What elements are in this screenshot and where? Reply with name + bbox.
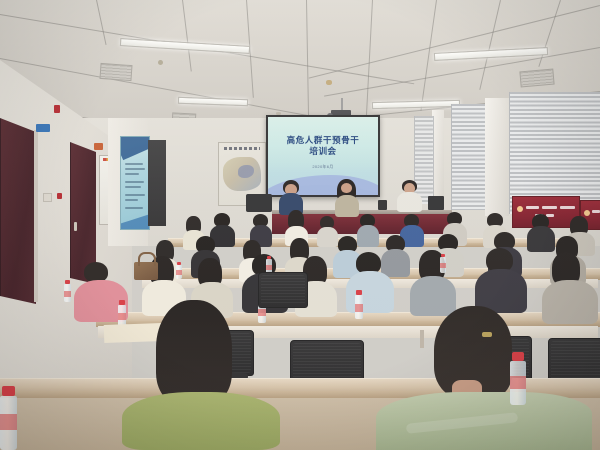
blue-info-poster [120, 136, 150, 230]
desk-monitor [428, 196, 444, 210]
sprinkler-head [158, 60, 163, 65]
sprinkler-head [326, 80, 332, 85]
emergency-light [94, 143, 103, 150]
slide-title-line1: 高危人群干预骨干 [268, 135, 378, 146]
door-left-far[interactable] [0, 118, 38, 306]
slide-title-line2: 培训会 [268, 146, 378, 157]
desk-leg [420, 330, 424, 348]
ceiling-light-fixture [178, 97, 248, 106]
hair-clip [482, 332, 492, 337]
ceiling-air-vent [519, 69, 554, 88]
wall-column [485, 98, 509, 216]
office-chair[interactable] [258, 272, 308, 308]
fire-alarm-bell [54, 105, 60, 113]
pillar-dark-panel [148, 140, 166, 226]
slide-title: 高危人群干预骨干 培训会 [268, 135, 378, 157]
fire-alarm-pull[interactable] [57, 193, 62, 199]
window-blinds [451, 104, 487, 210]
door-handle[interactable] [74, 222, 77, 231]
laptop [246, 194, 272, 212]
conference-room-photo: 高危人群干预骨干 培训会 2020年6月 [0, 0, 600, 450]
slide-date: 2020年6月 [268, 164, 378, 170]
door-frame [34, 130, 38, 302]
handout-paper[interactable] [104, 323, 163, 343]
window-blinds [414, 116, 434, 204]
ceiling-light-fixture [120, 38, 250, 54]
desk-monitor [378, 200, 387, 210]
ceiling-air-vent [99, 63, 132, 81]
wall-switch-plate[interactable] [43, 193, 52, 202]
handbag-strap [138, 252, 156, 266]
exit-sign [36, 124, 50, 132]
